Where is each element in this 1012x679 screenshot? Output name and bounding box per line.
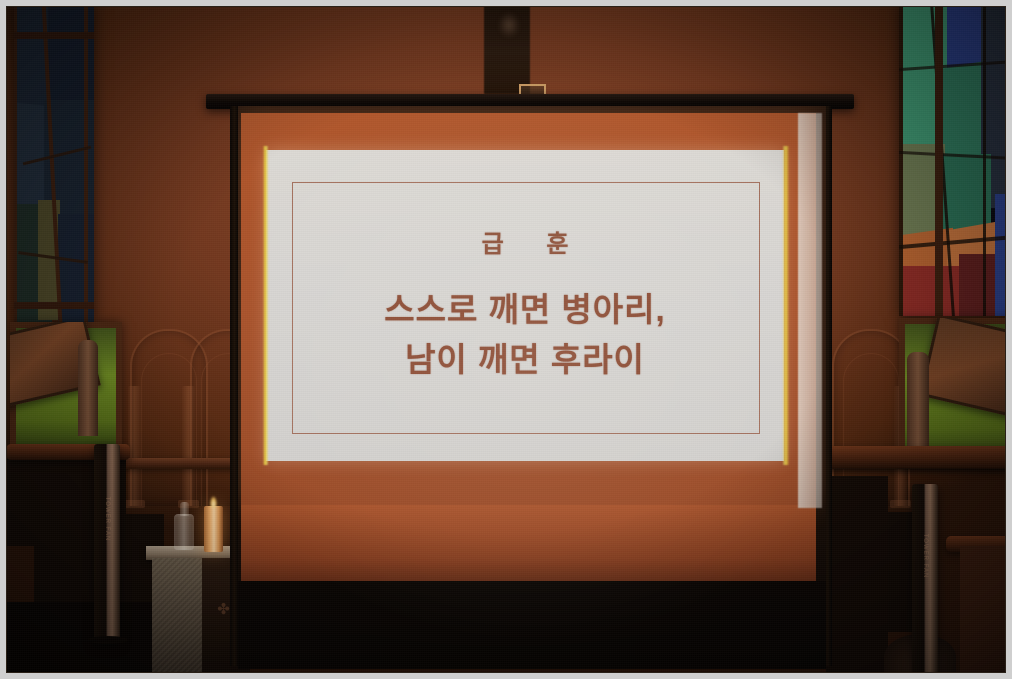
cross-emblem-icon: ✤ xyxy=(216,602,231,617)
stained-glass-window-right xyxy=(899,6,1006,316)
tilted-window-sash xyxy=(919,318,1006,422)
wainscot-rail-left xyxy=(116,458,246,469)
pew-back-right xyxy=(828,446,1006,468)
candle-flame xyxy=(210,496,217,508)
slide-line-2: 남이 깨면 후라이 xyxy=(405,335,645,385)
dark-furniture-mass xyxy=(826,476,888,673)
pew-seat-right xyxy=(960,546,1006,673)
clear-window-right xyxy=(899,318,1006,466)
tower-fan-right-label: TOWER FAN xyxy=(922,534,928,579)
tower-fan-right: TOWER FAN xyxy=(912,484,938,673)
tower-fan-left-label: TOWER FAN xyxy=(104,497,110,542)
projected-image-lower-wash xyxy=(241,505,816,581)
arched-wall-panels-left xyxy=(128,306,240,506)
projection-overshoot-strip xyxy=(798,113,822,508)
window-post xyxy=(907,352,929,460)
wall-pilaster xyxy=(182,386,195,506)
church-interior: TOWER FAN TOWER FAN ✤ xyxy=(6,6,1006,673)
wall-recess-highlight xyxy=(498,12,520,38)
wall-pilaster xyxy=(128,386,141,506)
photograph: TOWER FAN TOWER FAN ✤ xyxy=(0,0,1012,679)
lit-candle xyxy=(204,506,223,552)
slide-content: 급 훈 스스로 깨면 병아리, 남이 깨면 후라이 xyxy=(292,182,758,432)
chromatic-fringe-right xyxy=(783,146,789,465)
water-bottle xyxy=(174,514,194,550)
water-bottle-neck xyxy=(180,502,189,516)
stone-lectern xyxy=(152,558,208,673)
power-cable xyxy=(16,626,126,642)
slide-line-1: 스스로 깨면 병아리, xyxy=(384,285,665,335)
stained-glass-window-left xyxy=(14,6,94,322)
chromatic-fringe-left xyxy=(263,146,268,465)
clear-window-left xyxy=(10,322,122,454)
projection-screen: 급 훈 스스로 깨면 병아리, 남이 깨면 후라이 xyxy=(238,106,826,669)
tower-fan-left: TOWER FAN xyxy=(94,444,120,642)
window-post xyxy=(78,340,98,436)
slide-heading: 급 훈 xyxy=(464,224,587,259)
screen-lower-dark-area xyxy=(238,581,826,669)
